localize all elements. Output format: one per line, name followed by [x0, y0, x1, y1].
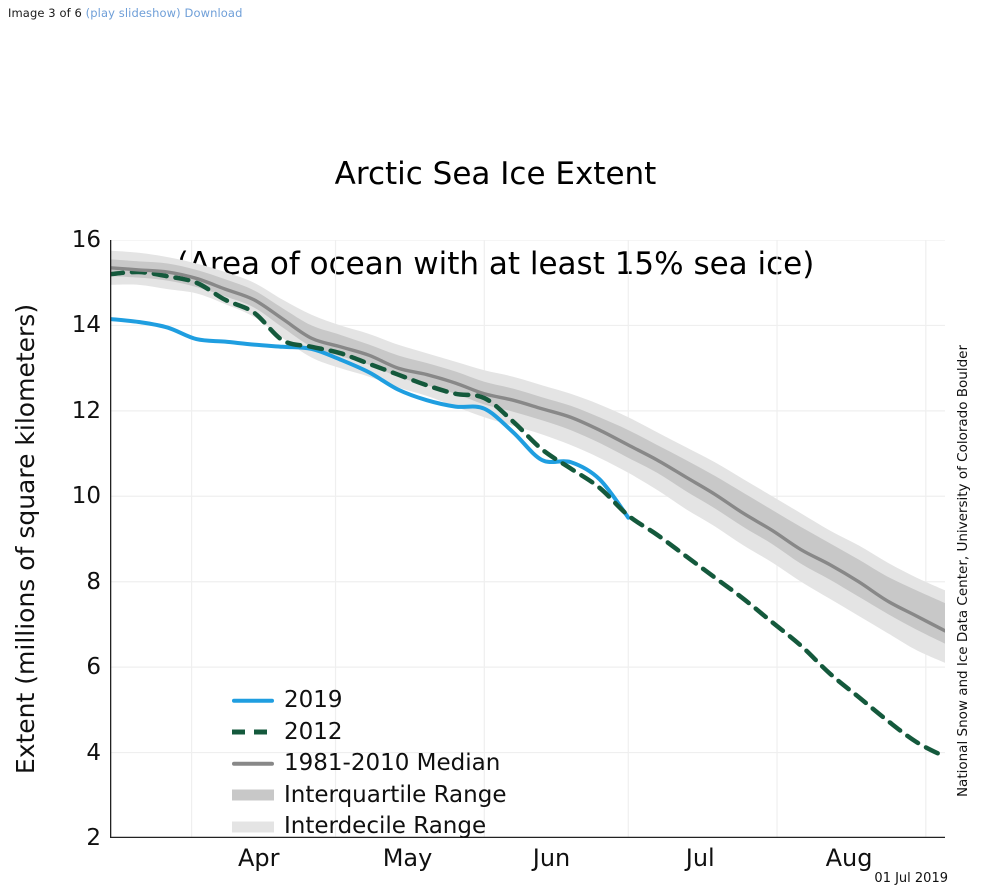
legend-swatch-interdecile-range [230, 817, 276, 837]
y-tick-label: 14 [72, 312, 101, 338]
download-link[interactable]: Download [185, 6, 243, 20]
legend-label: 1981-2010 Median [284, 752, 500, 775]
y-tick-label: 2 [86, 825, 101, 851]
y-tick-label: 6 [86, 654, 101, 680]
legend-swatch-2019 [230, 691, 276, 711]
legend-item: 1981-2010 Median [230, 748, 506, 780]
legend-swatch-2012 [230, 722, 276, 742]
y-tick-label: 12 [72, 398, 101, 424]
chart-credit: National Snow and Ice Data Center, Unive… [955, 331, 975, 811]
legend-label: Interdecile Range [284, 815, 486, 838]
x-tick-label: Jul [686, 844, 715, 872]
legend-item: 2019 [230, 685, 506, 717]
chart-date-stamp: 01 Jul 2019 [0, 871, 948, 886]
y-tick-label: 10 [72, 483, 101, 509]
image-viewer-toolbar: Image 3 of 6 (play slideshow) Download [0, 0, 991, 26]
x-tick-label: Aug [826, 844, 873, 872]
chart-figure: Arctic Sea Ice Extent (Area of ocean wit… [0, 26, 991, 892]
y-tick-label: 16 [72, 227, 101, 253]
x-tick-label: Apr [238, 844, 280, 872]
y-axis-label: Extent (millions of square kilometers) [11, 240, 45, 838]
y-tick-label: 8 [86, 569, 101, 595]
play-slideshow-link[interactable]: (play slideshow) [86, 6, 181, 20]
y-tick-label: 4 [86, 740, 101, 766]
legend-swatch-1981-2010-median [230, 754, 276, 774]
image-counter: Image 3 of 6 [8, 6, 82, 20]
legend-label: Interquartile Range [284, 784, 506, 807]
x-tick-label: Jun [533, 844, 571, 872]
legend-swatch-interquartile-range [230, 785, 276, 805]
plot-area: 201920121981-2010 MedianInterquartile Ra… [110, 240, 945, 838]
legend-label: 2012 [284, 721, 343, 744]
band-interdecile-range [110, 251, 945, 663]
x-tick-label: May [383, 844, 433, 872]
legend-label: 2019 [284, 689, 343, 712]
legend-item: 2012 [230, 717, 506, 749]
legend-item: Interdecile Range [230, 811, 506, 843]
legend-item: Interquartile Range [230, 780, 506, 812]
chart-legend: 201920121981-2010 MedianInterquartile Ra… [230, 685, 506, 843]
chart-title-line-1: Arctic Sea Ice Extent [0, 152, 991, 197]
